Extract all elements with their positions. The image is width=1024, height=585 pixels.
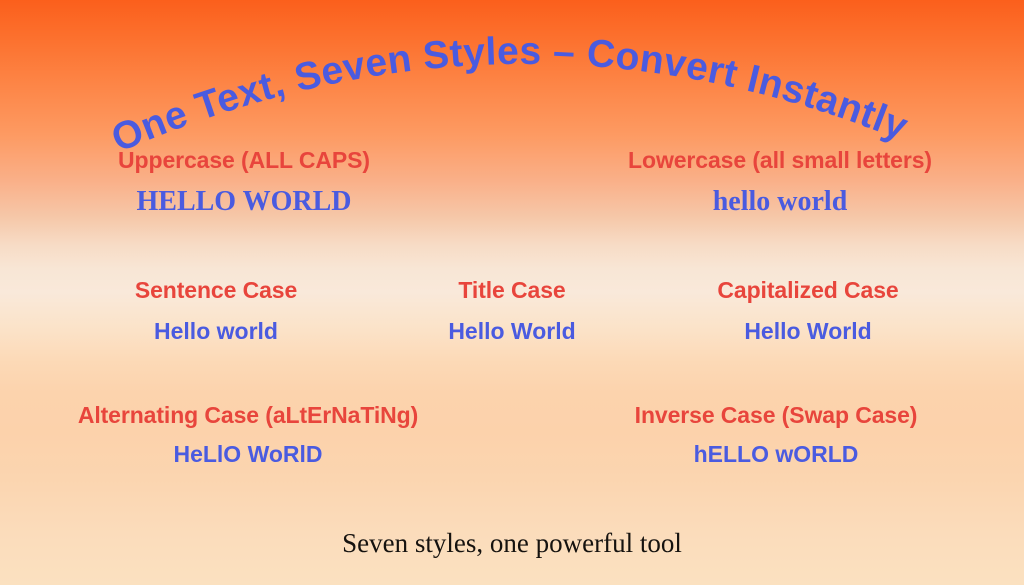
style-label-lowercase: Lowercase (all small letters)	[628, 148, 932, 173]
footer: Seven styles, one powerful tool	[0, 528, 1024, 559]
style-value-uppercase: HELLO WORLD	[137, 187, 352, 218]
style-label-capitalized-case: Capitalized Case	[717, 278, 898, 303]
style-card-lowercase: Lowercase (all small letters) hello worl…	[570, 148, 990, 218]
poster-canvas: One Text, Seven Styles – Convert Instant…	[0, 0, 1024, 585]
style-row-top: Uppercase (ALL CAPS) HELLO WORLD Lowerca…	[0, 148, 1024, 218]
style-row-bottom: Alternating Case (aLtErNaTiNg) HeLlO WoR…	[0, 403, 1024, 468]
arc-title-text: One Text, Seven Styles – Convert Instant…	[106, 30, 914, 161]
style-value-inverse-case: hELLO wORLD	[694, 442, 859, 467]
style-value-title-case: Hello World	[448, 319, 575, 344]
style-value-capitalized-case: Hello World	[744, 319, 871, 344]
style-value-alternating-case: HeLlO WoRlD	[173, 442, 322, 467]
style-value-lowercase: hello world	[713, 187, 848, 218]
style-row-middle: Sentence Case Hello world Title Case Hel…	[0, 278, 1024, 345]
style-label-sentence-case: Sentence Case	[135, 278, 297, 303]
style-card-capitalized-case: Capitalized Case Hello World	[688, 278, 928, 345]
style-card-uppercase: Uppercase (ALL CAPS) HELLO WORLD	[34, 148, 454, 218]
style-value-sentence-case: Hello world	[154, 319, 278, 344]
style-label-alternating-case: Alternating Case (aLtErNaTiNg)	[78, 403, 418, 428]
footer-tagline: Seven styles, one powerful tool	[342, 528, 682, 558]
style-card-inverse-case: Inverse Case (Swap Case) hELLO wORLD	[552, 403, 1000, 468]
arc-title-textpath: One Text, Seven Styles – Convert Instant…	[106, 30, 914, 161]
style-label-title-case: Title Case	[458, 278, 565, 303]
style-rows: Uppercase (ALL CAPS) HELLO WORLD Lowerca…	[0, 148, 1024, 467]
style-card-sentence-case: Sentence Case Hello world	[96, 278, 336, 345]
style-label-inverse-case: Inverse Case (Swap Case)	[635, 403, 918, 428]
style-label-uppercase: Uppercase (ALL CAPS)	[118, 148, 370, 173]
style-card-title-case: Title Case Hello World	[392, 278, 632, 345]
style-card-alternating-case: Alternating Case (aLtErNaTiNg) HeLlO WoR…	[24, 403, 472, 468]
